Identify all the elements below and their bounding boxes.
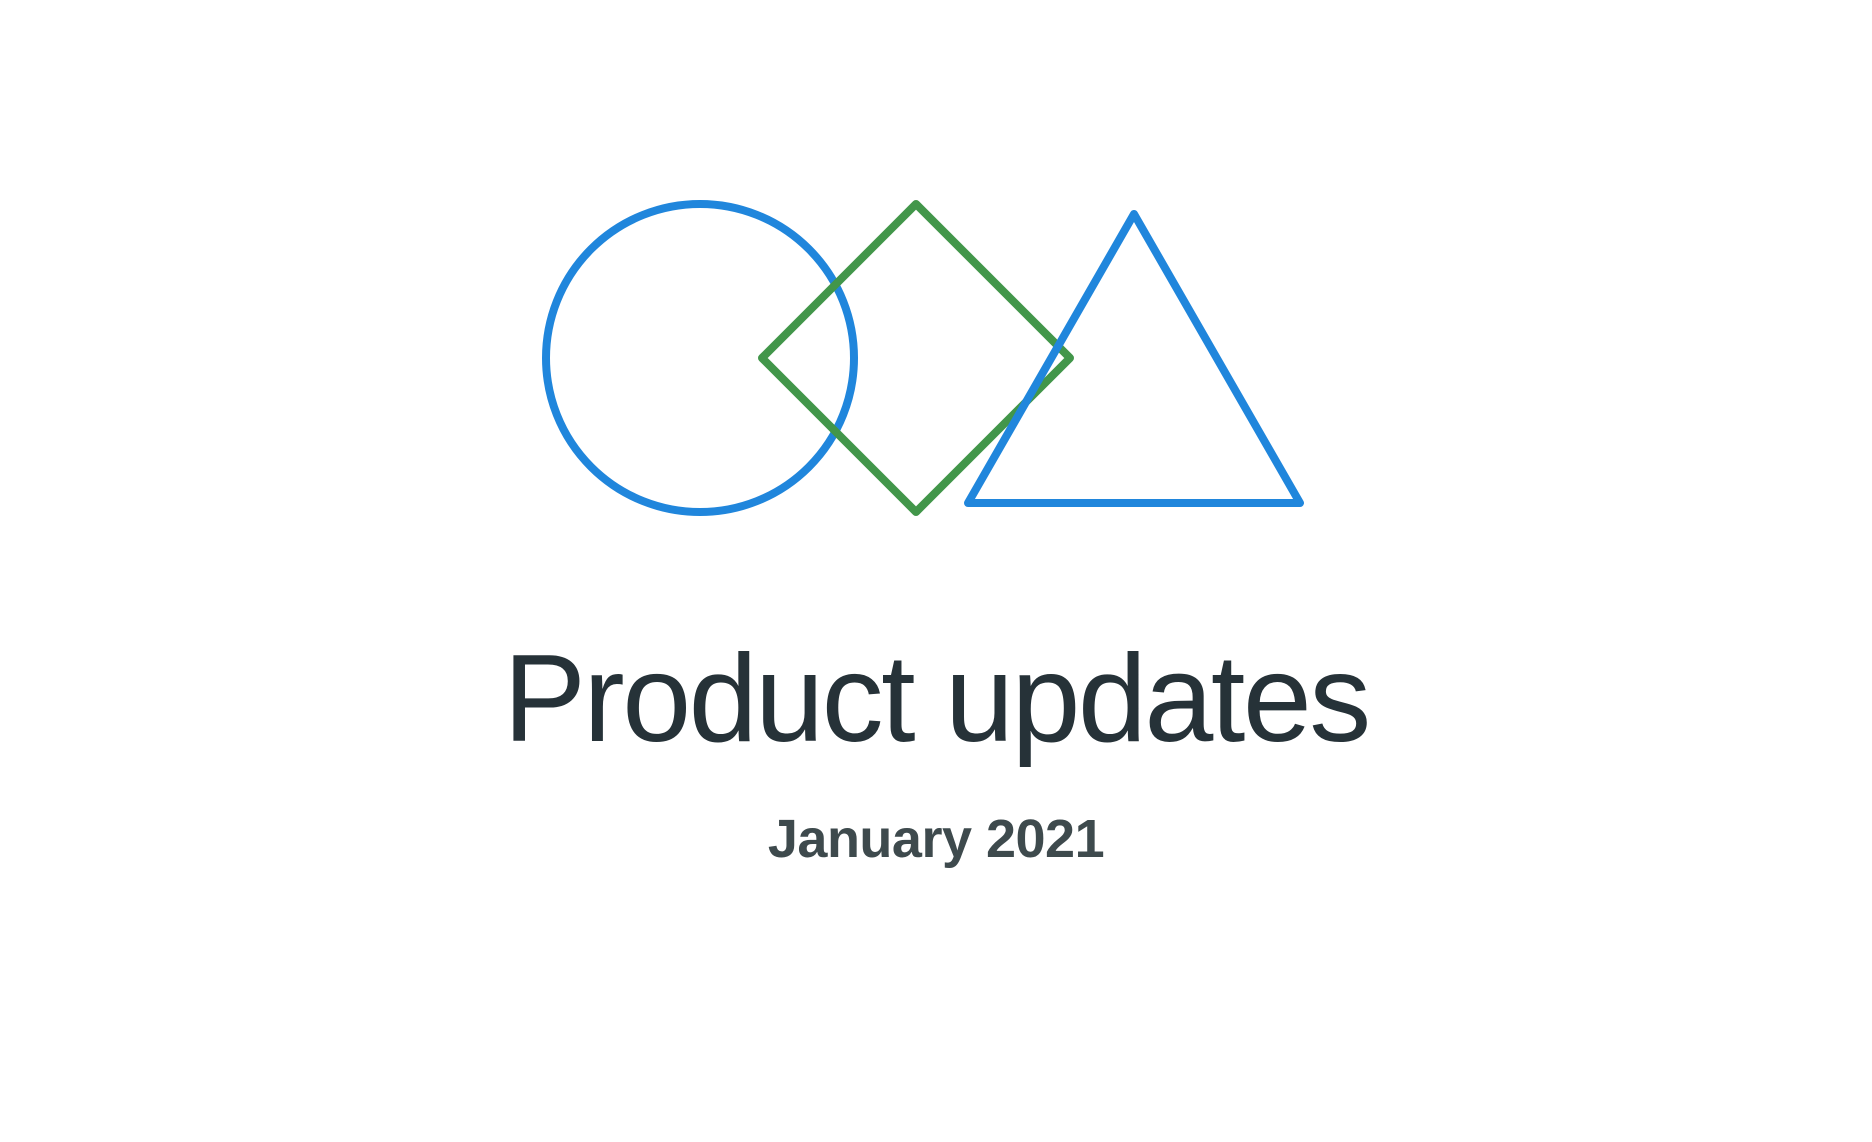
page-title: Product updates [0,636,1872,762]
overlapping-shapes-logo [0,0,1872,560]
circle-shape-icon [546,204,854,512]
headline-block: Product updates January 2021 [0,636,1872,870]
product-updates-slide: Product updates January 2021 [0,0,1872,1142]
triangle-shape-icon [968,214,1300,503]
page-subtitle: January 2021 [0,810,1872,869]
